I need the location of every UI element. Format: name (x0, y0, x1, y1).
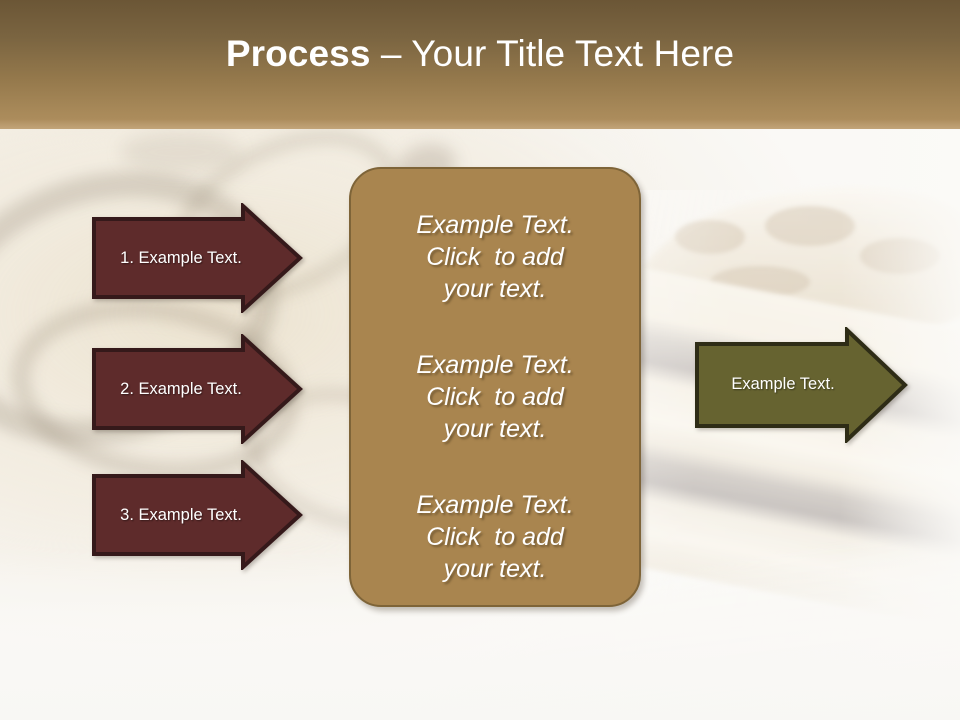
page-title-rest: – Your Title Text Here (371, 33, 735, 74)
panel-text-block-3: Example Text. Click to add your text. (351, 489, 639, 585)
slide: Process – Your Title Text Here 1. Exampl… (0, 0, 960, 720)
step-arrow-1[interactable]: 1. Example Text. (91, 203, 303, 313)
chocolate-drizzle-blob (120, 132, 240, 172)
right-arrow-icon (91, 203, 303, 313)
panel-text-block-2: Example Text. Click to add your text. (351, 349, 639, 445)
slide-header-band: Process – Your Title Text Here (0, 0, 960, 129)
page-title: Process – Your Title Text Here (226, 35, 734, 94)
right-arrow-icon (91, 334, 303, 444)
page-title-bold: Process (226, 33, 371, 74)
panel-text-block-1: Example Text. Click to add your text. (351, 209, 639, 305)
header-bottom-sheen (0, 119, 960, 129)
step-arrow-2[interactable]: 2. Example Text. (91, 334, 303, 444)
right-arrow-icon (694, 327, 908, 443)
right-arrow-icon (91, 460, 303, 570)
center-content-panel[interactable]: Example Text. Click to add your text. Ex… (349, 167, 641, 607)
result-arrow[interactable]: Example Text. (694, 327, 908, 443)
step-arrow-3[interactable]: 3. Example Text. (91, 460, 303, 570)
